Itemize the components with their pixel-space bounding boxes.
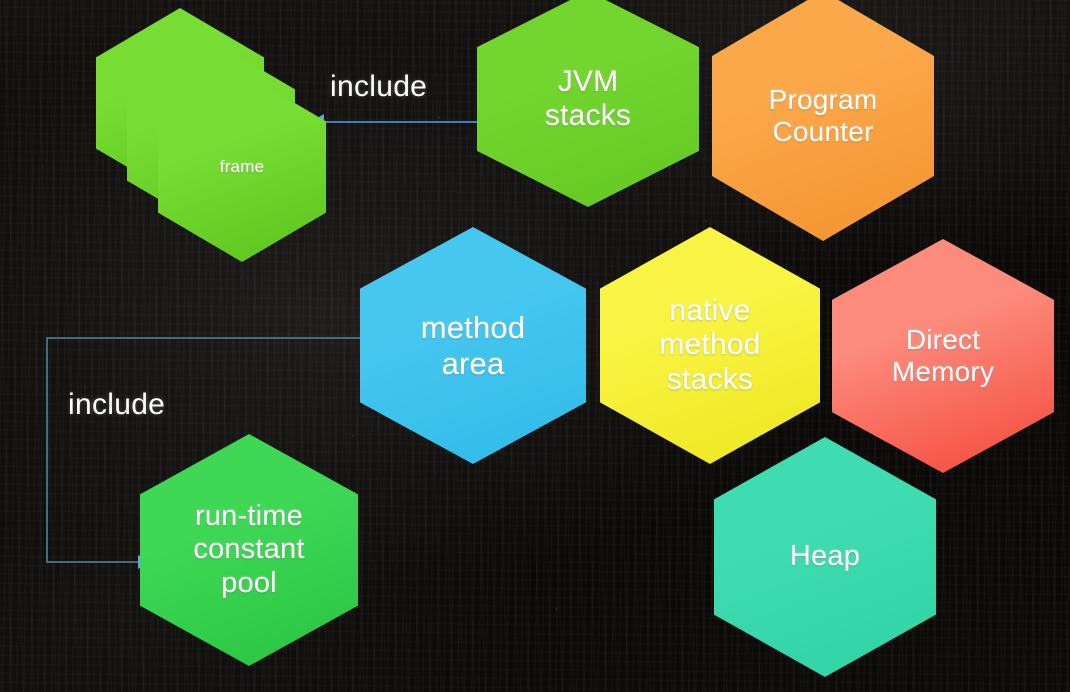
connector-label-method-area-includes-constant-pool: include (68, 388, 165, 422)
diagram-canvas: frameJVM stacksProgram Countermethod are… (0, 0, 1070, 692)
hexagon-label-method-area: method area (421, 310, 526, 381)
hexagon-label-runtime-constant-pool: run-time constant pool (193, 500, 304, 599)
hexagon-label-jvm-stacks: JVM stacks (545, 65, 631, 133)
hexagon-label-program-counter: Program Counter (769, 84, 878, 148)
hexagon-label-frame-stack: frame (220, 157, 264, 176)
hexagon-label-native-method-stacks: native method stacks (659, 294, 760, 397)
hexagon-label-direct-memory: Direct Memory (892, 324, 994, 388)
connector-label-jvm-stacks-includes-frames: include (330, 70, 427, 104)
hexagon-label-heap: Heap (790, 540, 860, 573)
